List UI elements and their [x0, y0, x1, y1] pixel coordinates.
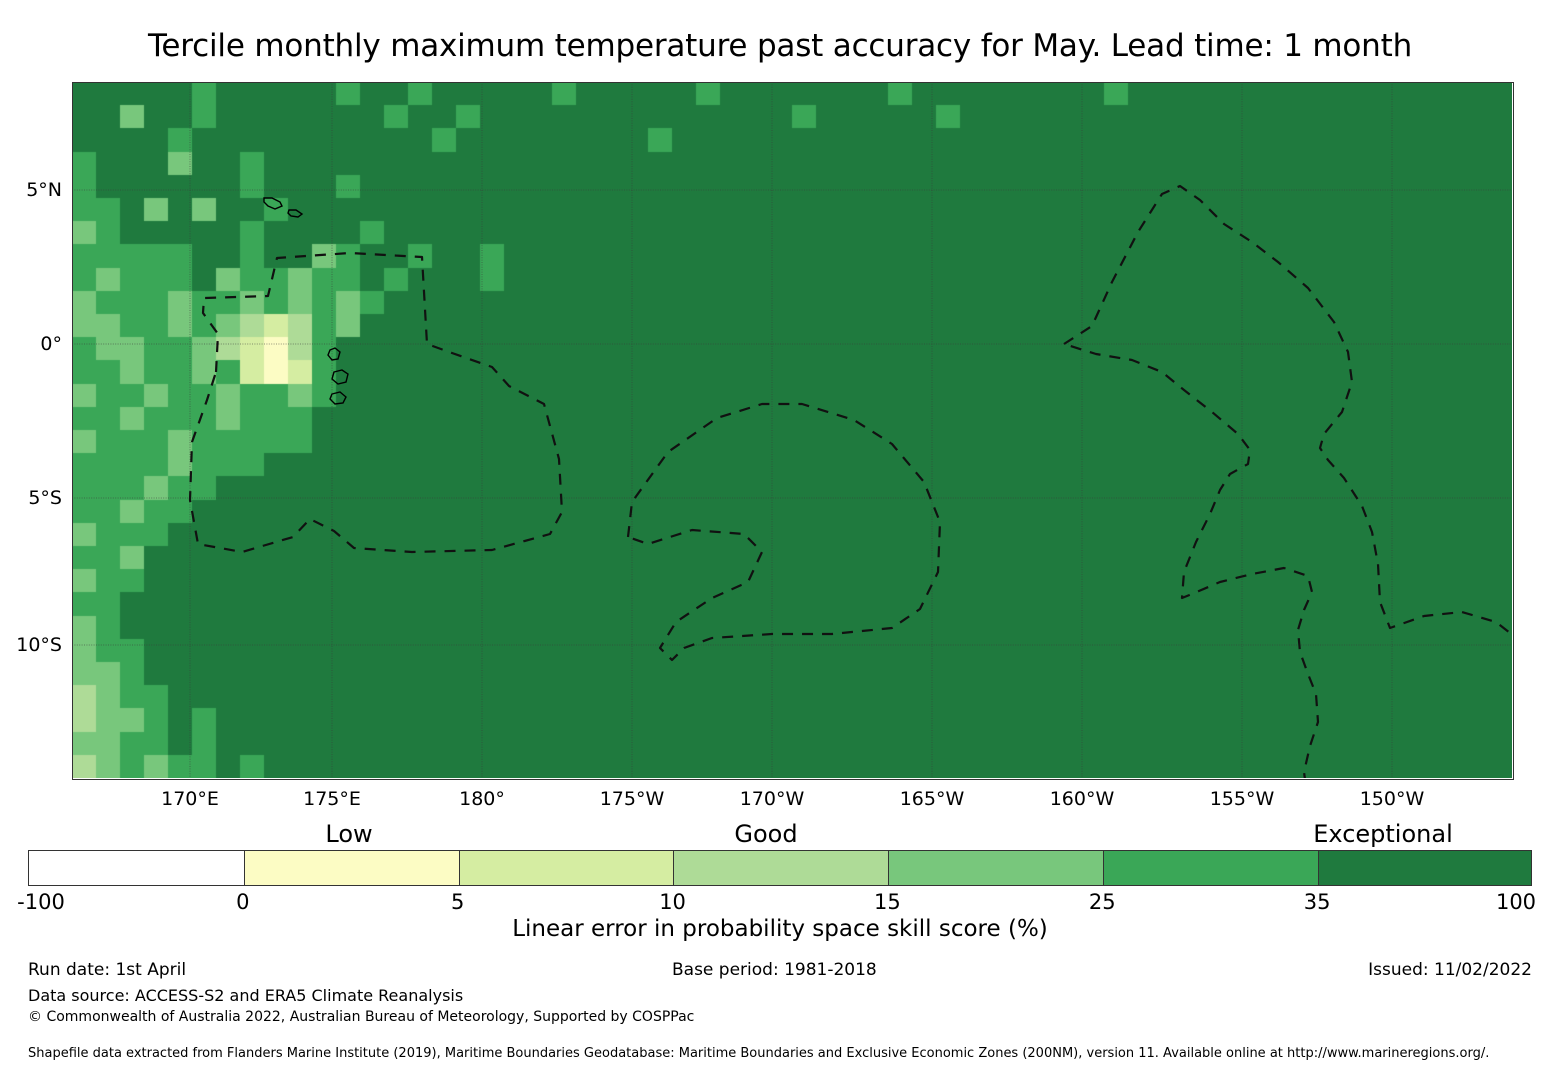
colorbar-segment — [1318, 851, 1531, 885]
data-source-text: Data source: ACCESS-S2 and ERA5 Climate … — [28, 986, 463, 1005]
colorbar-tick-label: 25 — [1089, 890, 1116, 914]
base-period-text: Base period: 1981-2018 — [672, 960, 877, 980]
colorbar-segment — [244, 851, 459, 885]
longitude-tick-label: 170°W — [740, 788, 805, 810]
graticule-grid-lines — [72, 82, 1512, 778]
eez-boundary — [628, 404, 940, 660]
island-coastlines — [264, 198, 840, 778]
page-title: Tercile monthly maximum temperature past… — [0, 28, 1560, 64]
island-outline — [330, 392, 346, 404]
colorbar-tick-label: 0 — [236, 890, 249, 914]
colorbar-segment — [888, 851, 1103, 885]
longitude-tick-label: 160°W — [1050, 788, 1115, 810]
eez-boundary — [190, 253, 562, 552]
colorbar-category-label: Exceptional — [1313, 820, 1453, 848]
island-outline — [264, 198, 282, 209]
latitude-tick-label: 10°S — [16, 634, 62, 656]
colorbar-tick-label: 100 — [1496, 890, 1536, 914]
shapefile-attribution-text: Shapefile data extracted from Flanders M… — [28, 1046, 1489, 1061]
colorbar-tick-label: 35 — [1304, 890, 1331, 914]
longitude-tick-label: 150°W — [1360, 788, 1425, 810]
colorbar-tick-label: 15 — [874, 890, 901, 914]
longitude-tick-label: 170°E — [161, 788, 219, 810]
longitude-tick-label: 180° — [459, 788, 505, 810]
eez-boundary — [1064, 186, 1512, 778]
colorbar-segment — [29, 851, 244, 885]
island-outline — [332, 370, 348, 384]
issued-date-text: Issued: 11/02/2022 — [1368, 960, 1532, 980]
colorbar-tick-label: 10 — [659, 890, 686, 914]
island-outline — [288, 210, 302, 217]
colorbar-tick-label: -100 — [17, 890, 65, 914]
copyright-text: © Commonwealth of Australia 2022, Austra… — [28, 1009, 694, 1025]
eez-boundary-lines — [190, 186, 1512, 778]
run-date-text: Run date: 1st April — [28, 960, 186, 980]
skill-score-heatmap — [72, 82, 1512, 778]
colorbar-segment — [459, 851, 674, 885]
longitude-tick-label: 175°E — [303, 788, 361, 810]
longitude-tick-label: 155°W — [1210, 788, 1275, 810]
island-outline — [328, 348, 340, 360]
colorbar-segment — [673, 851, 888, 885]
colorbar-tick-label: 5 — [451, 890, 464, 914]
latitude-tick-label: 0° — [40, 333, 62, 355]
colorbar-gradient-strip — [28, 850, 1532, 886]
colorbar-axis-label: Linear error in probability space skill … — [0, 916, 1560, 942]
colorbar-category-label: Good — [734, 820, 797, 848]
map-vector-overlay — [72, 82, 1512, 778]
longitude-tick-label: 165°W — [900, 788, 965, 810]
colorbar-category-label: Low — [325, 820, 372, 848]
latitude-tick-label: 5°S — [28, 487, 62, 509]
colorbar-segment — [1103, 851, 1318, 885]
longitude-tick-label: 175°W — [600, 788, 665, 810]
latitude-tick-label: 5°N — [26, 179, 62, 201]
colorbar-legend: LowGoodExceptional -1000510152535100 Lin… — [0, 812, 1560, 932]
